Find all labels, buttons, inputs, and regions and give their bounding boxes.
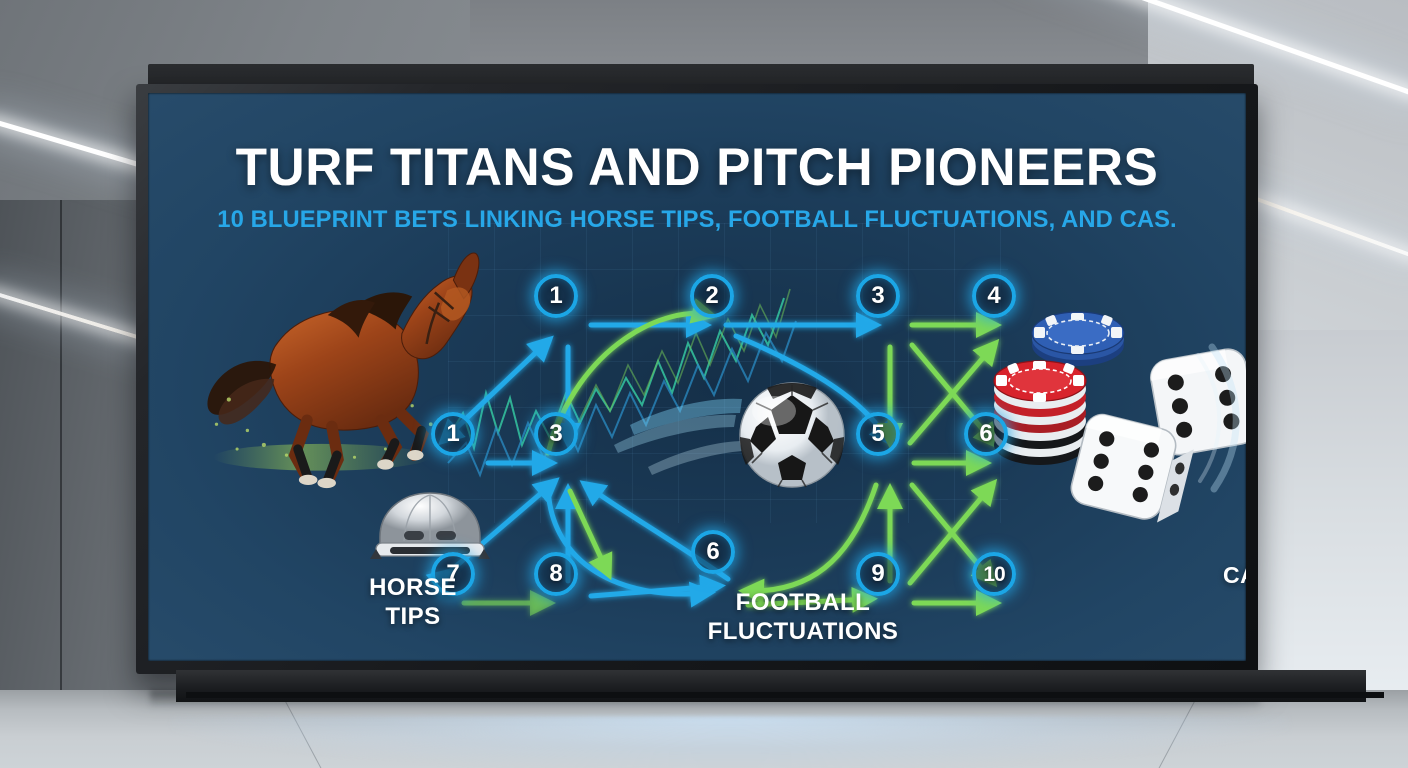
display-base-shadow [186,692,1384,698]
dice-pair-illustration [1068,343,1246,527]
page-title: TURF TITANS AND PITCH PIONEERS [164,137,1229,198]
label-football-fluctuations: FOOTBALL FLUCTUATIONS [668,588,938,647]
network-node-n2[interactable]: 2 [690,274,734,318]
display-bezel: 12341356786910 TURF TITANS AND PITCH PIO… [136,84,1258,674]
label-football-line1: FOOTBALL [668,588,938,617]
poster-artwork: 12341356786910 TURF TITANS AND PITCH PIO… [148,93,1246,661]
network-node-n6r[interactable]: 6 [964,412,1008,456]
network-node-n3r[interactable]: 3 [856,274,900,318]
network-node-n4[interactable]: 4 [972,274,1016,318]
network-node-n1t[interactable]: 1 [534,274,578,318]
label-casino-line1: CAS [1148,561,1246,589]
riding-helmet-icon [370,493,490,559]
room-scene: 12341356786910 TURF TITANS AND PITCH PIO… [0,0,1408,768]
floor-reflection [170,716,1290,768]
network-node-n5[interactable]: 5 [856,412,900,456]
network-node-n1l[interactable]: 1 [431,412,475,456]
label-horse-line1: HORSE [298,573,528,602]
page-subtitle: 10 BLUEPRINT BETS LINKING HORSE TIPS, FO… [153,206,1240,234]
display-screen[interactable]: 12341356786910 TURF TITANS AND PITCH PIO… [148,93,1246,661]
network-node-n6b[interactable]: 6 [691,530,735,574]
edge-n1l-n8 [570,491,608,573]
galloping-horse-illustration [207,253,478,488]
label-casino: CAS [1148,561,1246,589]
network-node-n8[interactable]: 8 [534,552,578,596]
label-horse-line2: TIPS [298,602,528,631]
network-node-n3l[interactable]: 3 [534,412,578,456]
network-node-n10[interactable]: 10 [972,552,1016,596]
label-horse-tips: HORSE TIPS [298,573,528,632]
soccer-ball-illustration [614,383,844,487]
label-football-line2: FLUCTUATIONS [668,617,938,646]
